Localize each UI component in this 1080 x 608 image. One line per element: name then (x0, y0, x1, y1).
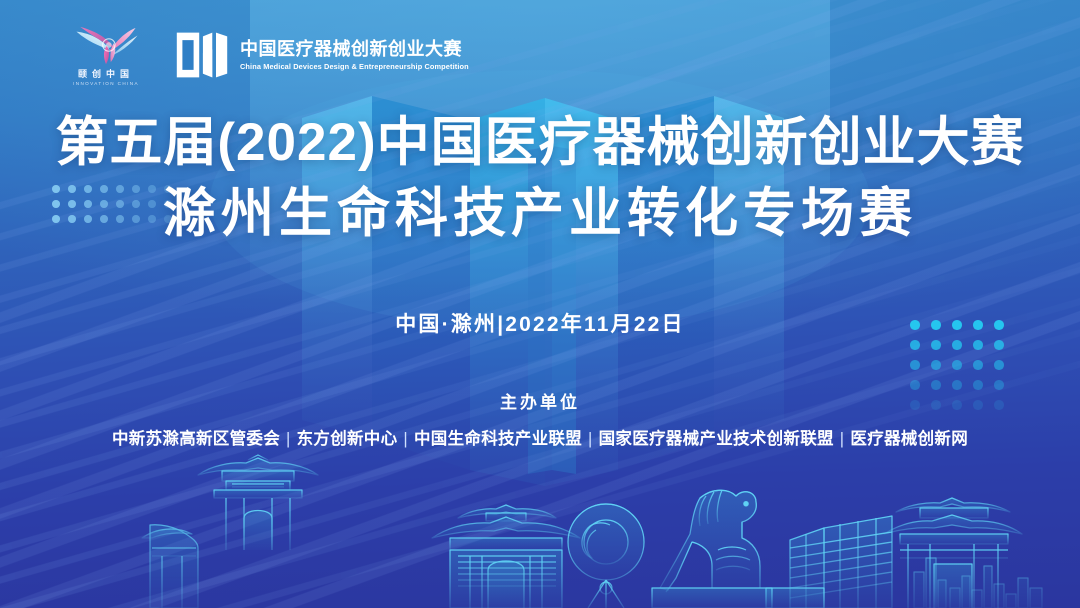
organizer-separator: | (280, 430, 297, 448)
event-banner: 颐创中国 INNOVATION CHINA 中国医疗器械创新创业大赛 China… (0, 0, 1080, 608)
organizer-item: 中国生命科技产业联盟 (414, 430, 582, 448)
decor-dot (952, 340, 962, 350)
organizer-separator: | (582, 430, 599, 448)
hero-title-block: 第五届(2022)中国医疗器械创新创业大赛 滁州生命科技产业转化专场赛 (0, 112, 1080, 245)
phoenix-bird-icon (69, 24, 143, 66)
phoenix-logo-name-cn: 颐创中国 (78, 67, 134, 80)
organizers-list: 中新苏滁高新区管委会|东方创新中心|中国生命科技产业联盟|国家医疗器械产业技术创… (0, 425, 1080, 449)
organizer-item: 国家医疗器械产业技术创新联盟 (599, 430, 834, 448)
event-date-location: 中国·滁州|2022年11月22日 (0, 308, 1080, 338)
decor-dot (910, 340, 920, 350)
decor-dot (931, 360, 941, 370)
merlion-statue (652, 490, 772, 608)
decor-dot (931, 340, 941, 350)
decor-dot (994, 360, 1004, 370)
door-panels-decoration (0, 0, 1080, 608)
modern-office-tower (766, 516, 892, 608)
diagonal-light-rays (0, 0, 1080, 608)
open-door-mark-icon (174, 28, 230, 82)
decor-dot (994, 340, 1004, 350)
organizers-label: 主办单位 (0, 388, 1080, 413)
decor-dot (952, 360, 962, 370)
phoenix-logo-name-en: INNOVATION CHINA (73, 81, 139, 86)
ring-sculpture (568, 504, 644, 608)
chinese-paifang-gate (884, 498, 1022, 608)
chinese-city-gate (432, 505, 580, 608)
chinese-pavilion-edge (142, 525, 198, 608)
phoenix-logo: 颐创中国 INNOVATION CHINA (60, 24, 152, 86)
decor-dot (910, 360, 920, 370)
organizer-separator: | (397, 430, 414, 448)
organizer-item: 东方创新中心 (297, 430, 398, 448)
organizer-item: 中新苏滁高新区管委会 (112, 430, 280, 448)
organizer-item: 医疗器械创新网 (850, 430, 968, 448)
organizer-separator: | (834, 430, 851, 448)
hero-title-line2: 滁州生命科技产业转化专场赛 (0, 183, 1080, 246)
competition-logo: 中国医疗器械创新创业大赛 China Medical Devices Desig… (174, 28, 476, 82)
competition-title-en: China Medical Devices Design & Entrepren… (240, 62, 469, 71)
decor-dot (973, 340, 983, 350)
header-logo-row: 颐创中国 INNOVATION CHINA 中国医疗器械创新创业大赛 China… (60, 24, 476, 86)
decor-dot (973, 360, 983, 370)
diagonal-light-rays-secondary (0, 0, 1080, 608)
chinese-archway-pavilion (198, 455, 318, 550)
hero-title-line1: 第五届(2022)中国医疗器械创新创业大赛 (0, 112, 1080, 175)
competition-title-cn: 中国医疗器械创新创业大赛 (240, 39, 476, 60)
city-skyline-illustration (0, 438, 1080, 608)
city-skyline-strip (914, 558, 1042, 608)
